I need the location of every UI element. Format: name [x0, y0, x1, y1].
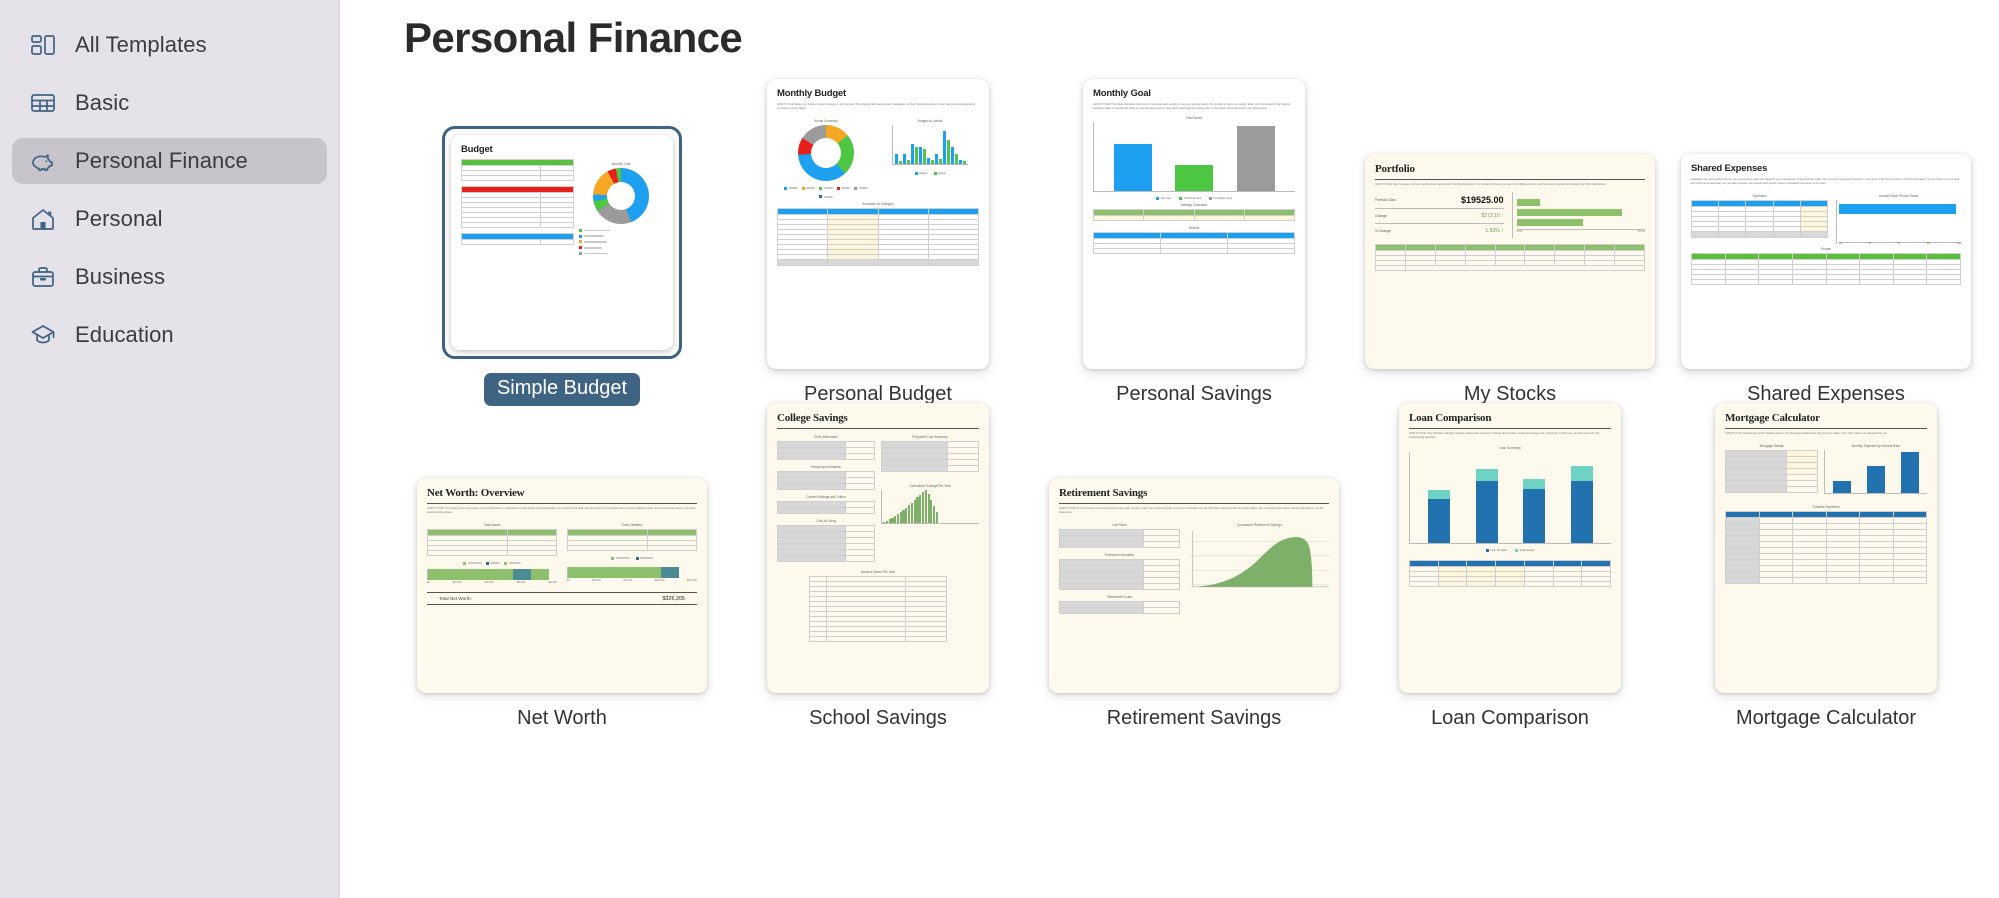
doc-title: Monthly Goal	[1093, 88, 1295, 99]
table-title: Financing Information	[777, 465, 875, 469]
doc-title: Net Worth: Overview	[427, 487, 697, 499]
chart-title: Budget vs. Actual	[918, 119, 943, 123]
bar-loan-1	[1428, 490, 1450, 543]
template-caption: Loan Comparison	[1431, 707, 1589, 730]
page-title: Personal Finance	[404, 14, 1999, 62]
doc-preview: Budget	[451, 135, 673, 350]
axis-tick: $70,000	[623, 579, 632, 582]
template-caption: Mortgage Calculator	[1736, 707, 1916, 730]
axis-tick: $15,000	[453, 581, 462, 584]
axis-tick: 50.0%	[1638, 230, 1645, 233]
template-card-mortgage-calculator[interactable]: Mortgage Calculator HOW TO USE: Replace …	[1668, 430, 1984, 730]
axis-tick: $7	[1898, 242, 1901, 245]
bar-your-plan	[1114, 144, 1152, 191]
people-table	[1691, 253, 1961, 285]
doc-howto: HOW TO USE: See the value of all your st…	[1375, 183, 1645, 187]
bar-chart	[881, 490, 979, 524]
legend-label: Actual	[938, 172, 945, 175]
table-icon	[28, 88, 58, 118]
thumb-wrap: Monthly Budget HOW TO USE: Enter your bu…	[720, 124, 1036, 369]
table-title: Financial Information	[1059, 553, 1180, 557]
axis-tick: $45,000	[517, 581, 526, 584]
template-caption: Personal Savings	[1116, 383, 1272, 406]
savings-calculator-table	[1093, 209, 1295, 221]
horizontal-bar-chart: 0.0% 50.0%	[1512, 192, 1646, 238]
table-title: Child Information	[777, 435, 875, 439]
template-thumbnail: Portfolio HOW TO USE: See the value of a…	[1365, 154, 1655, 369]
doc-title: Mortgage Calculator	[1725, 412, 1927, 424]
doc-title: Shared Expenses	[1691, 163, 1961, 174]
template-caption: School Savings	[809, 707, 947, 730]
template-thumbnail: Net Worth: Overview HOW TO USE: This she…	[417, 478, 707, 693]
doc-howto: HOW TO USE: To find out how much you'll …	[1059, 507, 1329, 515]
stat-label: % Change	[1375, 229, 1391, 233]
doc-howto: HOW TO USE: This sheet calculates how mu…	[1093, 103, 1295, 111]
axis-tick: $105,000	[654, 579, 664, 582]
doc-title: Budget	[461, 144, 663, 155]
template-thumbnail: Retirement Savings HOW TO USE: To find o…	[1049, 478, 1339, 693]
results-table	[1093, 232, 1295, 254]
chart-title: Monthly Payment by Interest Rate	[1824, 444, 1927, 448]
sidebar-item-label: Basic	[75, 90, 129, 116]
chart-title: Monthly Cost	[612, 162, 631, 166]
selection-frame: Budget	[442, 126, 682, 359]
template-caption: Net Worth	[517, 707, 607, 730]
total-liabilities-table	[567, 529, 697, 551]
total-assets-table	[427, 529, 557, 556]
doc-preview: College Savings Child Information Financ…	[767, 403, 989, 693]
table-title: Possible Payments	[1725, 505, 1927, 509]
doc-preview: Monthly Goal HOW TO USE: This sheet calc…	[1083, 79, 1305, 369]
template-thumbnail: Shared Expenses Calculate how much each …	[1681, 154, 1971, 369]
table-title: Total Liabilities	[567, 523, 697, 527]
stat-value: $19525.00	[1461, 195, 1504, 205]
table-title: Savings Calculator	[1093, 203, 1295, 207]
thumb-wrap: College Savings Child Information Financ…	[720, 448, 1036, 693]
doc-preview: Portfolio HOW TO USE: See the value of a…	[1365, 154, 1655, 369]
net-worth-label: Total Net Worth:	[439, 596, 472, 601]
thumb-wrap: Retirement Savings HOW TO USE: To find o…	[1036, 448, 1352, 693]
table-title: Results	[1093, 226, 1295, 230]
thumb-wrap: Loan Comparison HOW TO USE: This calcula…	[1352, 448, 1668, 693]
thumb-wrap: Portfolio HOW TO USE: See the value of a…	[1352, 124, 1668, 369]
bar-loan-4	[1571, 466, 1593, 543]
sidebar-item-personal-finance[interactable]: Personal Finance	[12, 138, 327, 184]
stat-value: 1.93% ↑	[1485, 228, 1503, 234]
amount-saved-table	[809, 576, 946, 642]
thumb-wrap: Shared Expenses Calculate how much each …	[1668, 124, 1984, 369]
sidebar-item-business[interactable]: Business	[12, 254, 327, 300]
axis-tick: $35,000	[592, 579, 601, 582]
doc-preview: Shared Expenses Calculate how much each …	[1681, 154, 1971, 369]
bar-loan-3	[1523, 479, 1545, 543]
chart-title: Amount Each Person Owes	[1836, 194, 1961, 198]
expenses-table	[1691, 200, 1828, 238]
legend-label: Your plan	[1160, 197, 1171, 200]
donut-chart	[593, 168, 649, 224]
template-thumbnail: Loan Comparison HOW TO USE: This calcula…	[1399, 403, 1621, 693]
doc-howto: HOW TO USE: This calculator will help ev…	[1409, 432, 1611, 440]
mortgage-details-table	[1725, 450, 1818, 493]
possible-payments-table	[1725, 511, 1927, 584]
template-card-personal-budget[interactable]: Monthly Budget HOW TO USE: Enter your bu…	[720, 106, 1036, 406]
template-card-loan-comparison[interactable]: Loan Comparison HOW TO USE: This calcula…	[1352, 430, 1668, 730]
stat-value: $373.10 ↑	[1482, 213, 1504, 219]
axis-tick: $0	[427, 581, 430, 584]
home-icon	[28, 204, 58, 234]
legend-label: Contribute more	[1214, 197, 1233, 200]
sidebar-item-personal[interactable]: Personal	[12, 196, 327, 242]
graduation-cap-icon	[28, 320, 58, 350]
template-thumbnail: Mortgage Calculator HOW TO USE: Replace …	[1715, 403, 1937, 693]
bar-contribute-more	[1237, 126, 1275, 191]
template-grid-row-1: Budget	[404, 106, 1999, 406]
template-card-simple-budget[interactable]: Budget	[404, 106, 720, 406]
axis-tick: $0	[1839, 242, 1842, 245]
briefcase-icon	[28, 262, 58, 292]
legend-label: Budget	[919, 172, 927, 175]
area-chart	[1190, 529, 1329, 591]
axis-tick: $11	[1927, 242, 1931, 245]
doc-preview: Net Worth: Overview HOW TO USE: This she…	[417, 478, 707, 693]
template-card-personal-savings[interactable]: Monthly Goal HOW TO USE: This sheet calc…	[1036, 106, 1352, 406]
stocks-table	[1375, 244, 1645, 271]
legend-label: Total Interest	[1519, 549, 1534, 552]
table-title: Total Assets	[427, 523, 557, 527]
thumb-wrap: Net Worth: Overview HOW TO USE: This she…	[404, 448, 720, 693]
doc-title: Loan Comparison	[1409, 412, 1611, 424]
sidebar-item-label: Personal	[75, 206, 163, 232]
axis-tick: $0	[567, 579, 570, 582]
table-title: Life Plans	[1059, 523, 1180, 527]
grid-icon	[28, 30, 58, 60]
doc-preview: Retirement Savings HOW TO USE: To find o…	[1049, 478, 1339, 693]
horizontal-bar-chart: $0 $4 $7 $11 $14	[1836, 200, 1961, 244]
table-title: Expenses	[1691, 194, 1828, 198]
bar-loan-2	[1476, 469, 1498, 543]
legend-label: Loan Principal	[1490, 549, 1506, 552]
table-title: Mortgage Details	[1725, 444, 1818, 448]
template-card-shared-expenses[interactable]: Shared Expenses Calculate how much each …	[1668, 106, 1984, 406]
chart-title: Actual Summary	[814, 119, 837, 123]
doc-title: Retirement Savings	[1059, 487, 1329, 499]
legend-label: Contribute less	[1184, 197, 1201, 200]
sidebar-item-label: Personal Finance	[75, 148, 248, 174]
table-title: Retirement Goals	[1059, 595, 1180, 599]
summary-table	[777, 208, 979, 266]
thumb-wrap: Monthly Goal HOW TO USE: This sheet calc…	[1036, 124, 1352, 369]
template-caption: Retirement Savings	[1107, 707, 1282, 730]
doc-title: Monthly Budget	[777, 88, 979, 99]
template-grid-row-2: Net Worth: Overview HOW TO USE: This she…	[404, 430, 1999, 730]
stacked-bar-chart	[1409, 452, 1611, 544]
sidebar-item-label: All Templates	[75, 32, 207, 58]
doc-howto: HOW TO USE: This sheet shows a summary o…	[427, 507, 697, 515]
bar-contribute-less	[1175, 165, 1213, 191]
table-title: Summary by Category	[777, 202, 979, 206]
sidebar-item-education[interactable]: Education	[12, 312, 327, 358]
doc-title: College Savings	[777, 412, 979, 424]
axis-tick: $4	[1868, 242, 1871, 245]
doc-preview: Monthly Budget HOW TO USE: Enter your bu…	[767, 79, 989, 369]
template-caption: Simple Budget	[484, 373, 640, 406]
templates-chooser: All Templates Basic Perso	[0, 0, 1999, 898]
thumb-wrap: Budget	[404, 114, 720, 359]
doc-howto: Calculate how much each person in your g…	[1691, 178, 1961, 186]
bar-chart	[1824, 450, 1927, 494]
table-title: Amount Saved Per Year	[777, 570, 979, 574]
sidebar-item-basic[interactable]: Basic	[12, 80, 327, 126]
table-title: People	[1691, 247, 1961, 251]
sidebar-item-label: Business	[75, 264, 165, 290]
template-card-my-stocks[interactable]: Portfolio HOW TO USE: See the value of a…	[1352, 106, 1668, 406]
template-card-retirement-savings[interactable]: Retirement Savings HOW TO USE: To find o…	[1036, 430, 1352, 730]
category-sidebar: All Templates Basic Perso	[0, 0, 340, 898]
chart-title: Cumulative Retirement Savings	[1190, 523, 1329, 527]
bar-chart	[892, 125, 968, 165]
template-thumbnail: Budget	[451, 135, 673, 350]
template-card-school-savings[interactable]: College Savings Child Information Financ…	[720, 430, 1036, 730]
chart-title: Loan Summary	[1409, 446, 1611, 450]
axis-tick: $140,000	[687, 579, 697, 582]
sidebar-item-all-templates[interactable]: All Templates	[12, 22, 327, 68]
doc-preview: Loan Comparison HOW TO USE: This calcula…	[1399, 403, 1621, 693]
piggy-bank-icon	[28, 146, 58, 176]
table-title: Projected Cost Summary	[881, 435, 979, 439]
template-card-net-worth[interactable]: Net Worth: Overview HOW TO USE: This she…	[404, 430, 720, 730]
chart-title: Total Saved	[1093, 116, 1295, 120]
net-worth-value: $326,205	[663, 596, 685, 602]
template-thumbnail: College Savings Child Information Financ…	[767, 403, 989, 693]
axis-tick: $14	[1957, 242, 1961, 245]
table-title: Cost of Living	[777, 519, 875, 523]
doc-howto: HOW TO USE: Replace the yellow shaded va…	[1725, 432, 1927, 436]
axis-tick: 0.0%	[1517, 230, 1523, 233]
chart-title: Cumulative Savings Per Year	[881, 484, 979, 488]
table-title: Current Savings and Tuition	[777, 495, 875, 499]
template-thumbnail: Monthly Budget HOW TO USE: Enter your bu…	[767, 79, 989, 369]
doc-preview: Mortgage Calculator HOW TO USE: Replace …	[1715, 403, 1937, 693]
thumb-wrap: Mortgage Calculator HOW TO USE: Replace …	[1668, 448, 1984, 693]
stat-label: Change	[1375, 214, 1387, 218]
sidebar-item-label: Education	[75, 322, 174, 348]
loan-table	[1409, 560, 1611, 587]
doc-howto: HOW TO USE: Enter your budget for each c…	[777, 103, 979, 111]
doc-title: Portfolio	[1375, 163, 1645, 175]
axis-tick: $60,000	[548, 581, 557, 584]
axis-tick: $30,000	[485, 581, 494, 584]
template-thumbnail: Monthly Goal HOW TO USE: This sheet calc…	[1083, 79, 1305, 369]
stat-label: Portfolio Gain	[1375, 198, 1396, 202]
donut-chart	[798, 125, 854, 181]
templates-main: Personal Finance Budget	[340, 0, 1999, 898]
